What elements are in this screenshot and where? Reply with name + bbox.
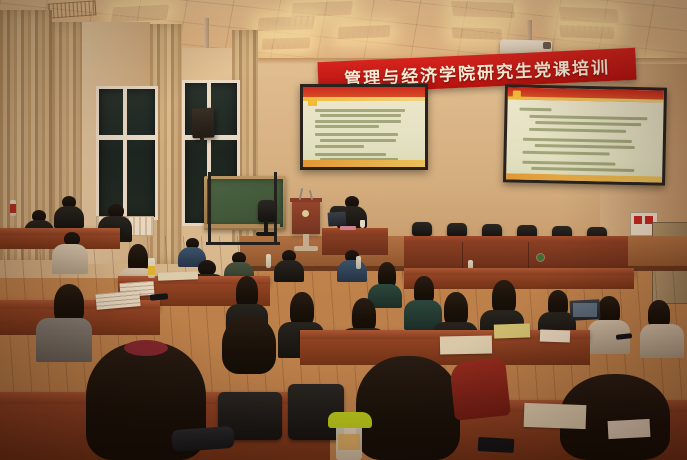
window <box>96 86 158 220</box>
water-bottle <box>266 254 271 268</box>
ceiling-light-panel <box>451 1 515 18</box>
desk-item-pink <box>340 226 356 230</box>
open-notebook <box>440 336 492 355</box>
ceiling-light-panel <box>291 1 353 17</box>
red-bag <box>449 357 511 421</box>
head-table-chair <box>447 223 467 237</box>
power-outlet-icon <box>537 254 544 261</box>
head-table-chair <box>412 222 432 236</box>
student-body <box>54 206 84 228</box>
slide-header-bar <box>508 87 664 102</box>
ceiling-light-panel <box>451 27 502 40</box>
pencil-case <box>171 426 234 452</box>
podium-emblem-icon <box>302 210 309 217</box>
laptop-screen-glow <box>573 303 597 317</box>
slide-badge-icon <box>512 90 520 97</box>
smartphone <box>478 437 515 453</box>
water-bottle <box>356 256 361 269</box>
right-slide <box>506 87 664 182</box>
wall-speaker-bracket <box>200 138 204 148</box>
student-body <box>274 260 304 282</box>
water-bottle <box>10 200 16 216</box>
notebook <box>158 271 198 280</box>
left-slide <box>303 87 425 167</box>
foreground-student-head <box>356 356 460 460</box>
blackboard-leg <box>208 172 211 244</box>
slide-header-accent <box>303 97 425 101</box>
ceiling-light-panel <box>111 4 169 22</box>
podium-base <box>294 246 318 251</box>
presenter-laptop[interactable] <box>328 211 347 226</box>
left-projection-screen <box>300 84 428 170</box>
water-bottle <box>148 258 155 278</box>
ceiling-light-panel <box>337 25 390 39</box>
bottle-cap <box>328 412 372 428</box>
slide-badge-icon <box>308 97 317 106</box>
slide-footer-bar <box>506 173 662 183</box>
table-panel-seam <box>462 242 463 270</box>
student-body <box>52 244 88 274</box>
slide-header-accent <box>508 96 664 102</box>
paper-sheet <box>608 419 651 439</box>
ceiling-light-panel <box>261 37 310 50</box>
student-desk-front <box>404 275 634 289</box>
ceiling-light-panel <box>559 25 614 39</box>
ceiling-light-panel <box>559 7 619 23</box>
student-head <box>290 292 314 326</box>
projector-lens <box>543 42 551 49</box>
student-body <box>640 324 684 358</box>
student-head <box>352 298 376 332</box>
lecture-podium <box>292 200 320 234</box>
student-head <box>444 292 468 326</box>
slide-header-bar <box>303 87 425 101</box>
hair-tie <box>124 340 168 356</box>
student-head <box>492 280 516 314</box>
paper-sheet <box>540 329 570 342</box>
wall-speaker-icon <box>191 108 214 139</box>
right-projection-screen <box>503 84 667 185</box>
podium-top <box>290 198 322 202</box>
student-body <box>337 260 367 282</box>
student-body <box>36 318 92 362</box>
yellow-notepad <box>494 323 530 338</box>
head-table-front <box>404 242 628 270</box>
chalk-tray <box>204 224 280 228</box>
student-head <box>222 316 276 374</box>
chair-base <box>256 232 276 236</box>
office-chair <box>258 200 276 222</box>
table-panel-seam <box>528 242 529 270</box>
blackboard-base <box>206 242 280 245</box>
open-notebook <box>524 403 587 429</box>
ceiling-light-panel <box>257 16 315 31</box>
lecture-hall-photo: 管理与经济学院研究生党课培训 <box>0 0 687 460</box>
slide-footer-bar <box>303 160 425 167</box>
water-cup <box>360 220 365 228</box>
